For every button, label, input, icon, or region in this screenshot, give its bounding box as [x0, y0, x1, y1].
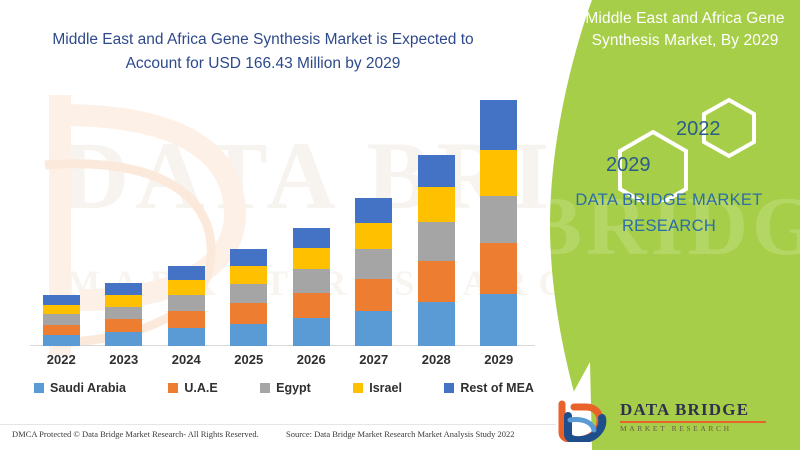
stacked-bar-2022 — [43, 295, 80, 346]
plot-area — [30, 100, 530, 346]
legend-swatch-icon — [260, 383, 270, 393]
bar-segment — [168, 311, 205, 328]
footer-source: Source: Data Bridge Market Research Mark… — [286, 429, 515, 439]
chart-infographic: DATA BRIDGE MARKET RESEARCH Middle East … — [0, 0, 800, 450]
bar-segment — [480, 196, 517, 243]
legend-item[interactable]: Israel — [353, 381, 402, 395]
legend-item[interactable]: Egypt — [260, 381, 311, 395]
logo-divider — [620, 421, 766, 423]
bar-segment — [418, 155, 455, 187]
brand-panel: BRIDGE Middle East and Africa Gene Synth… — [532, 0, 800, 450]
x-axis-tick-2029: 2029 — [468, 352, 531, 367]
bar-segment — [105, 307, 142, 320]
x-axis-labels: 20222023202420252026202720282029 — [30, 352, 530, 367]
bar-segment — [418, 222, 455, 260]
bar-column — [218, 100, 281, 346]
panel-brand-name: DATA BRIDGE MARKET RESEARCH — [556, 188, 782, 239]
data-bridge-logo: DATA BRIDGE MARKET RESEARCH — [554, 398, 784, 442]
bar-segment — [293, 228, 330, 248]
stacked-bar-2027 — [355, 198, 392, 346]
bar-column — [280, 100, 343, 346]
bar-segment — [230, 284, 267, 303]
stacked-bar-2024 — [168, 266, 205, 346]
bar-segment — [43, 305, 80, 315]
bar-segment — [293, 293, 330, 319]
bar-segment — [293, 269, 330, 292]
data-bridge-mark-icon — [554, 398, 616, 442]
bar-segment — [480, 150, 517, 196]
hexagon-label-2029: 2029 — [606, 154, 651, 177]
stacked-bar-2023 — [105, 283, 142, 346]
bar-column — [405, 100, 468, 346]
legend-label: Rest of MEA — [460, 381, 534, 395]
bar-segment — [230, 324, 267, 346]
x-axis-tick-2027: 2027 — [343, 352, 406, 367]
bar-segment — [230, 249, 267, 266]
bar-segment — [355, 279, 392, 311]
x-axis-tick-2028: 2028 — [405, 352, 468, 367]
hexagon-outline-icon — [558, 92, 788, 202]
x-axis-tick-2022: 2022 — [30, 352, 93, 367]
stacked-bar-2028 — [418, 155, 455, 346]
bar-column — [30, 100, 93, 346]
chart-title: Middle East and Africa Gene Synthesis Ma… — [38, 28, 488, 76]
legend-item[interactable]: Saudi Arabia — [34, 381, 126, 395]
bar-segment — [418, 302, 455, 346]
stacked-bar-2029 — [480, 100, 517, 346]
bar-group — [30, 100, 530, 346]
bar-segment — [480, 100, 517, 150]
logo-sub-text: MARKET RESEARCH — [620, 424, 766, 433]
bar-segment — [105, 332, 142, 346]
legend-swatch-icon — [168, 383, 178, 393]
bar-column — [155, 100, 218, 346]
legend-swatch-icon — [353, 383, 363, 393]
legend-swatch-icon — [34, 383, 44, 393]
logo-wordmark: DATA BRIDGE MARKET RESEARCH — [620, 400, 766, 433]
footer-copyright: DMCA Protected © Data Bridge Market Rese… — [12, 429, 259, 439]
legend-label: Saudi Arabia — [50, 381, 126, 395]
bar-segment — [105, 295, 142, 307]
panel-title: Middle East and Africa Gene Synthesis Ma… — [572, 8, 798, 53]
legend-label: U.A.E — [184, 381, 217, 395]
stacked-bar-2025 — [230, 249, 267, 346]
legend-item[interactable]: Rest of MEA — [444, 381, 534, 395]
bar-segment — [230, 266, 267, 284]
bar-segment — [105, 319, 142, 332]
chart-pane: DATA BRIDGE MARKET RESEARCH Middle East … — [0, 0, 560, 450]
legend-swatch-icon — [444, 383, 454, 393]
bar-segment — [43, 295, 80, 305]
bar-segment — [43, 325, 80, 336]
bar-column — [468, 100, 531, 346]
bar-segment — [293, 318, 330, 346]
bar-column — [343, 100, 406, 346]
logo-main-text: DATA BRIDGE — [620, 400, 766, 420]
bar-segment — [355, 249, 392, 279]
legend-item[interactable]: U.A.E — [168, 381, 217, 395]
bar-segment — [355, 311, 392, 346]
x-axis-tick-2026: 2026 — [280, 352, 343, 367]
bar-segment — [168, 266, 205, 280]
bar-segment — [355, 223, 392, 250]
bar-segment — [105, 283, 142, 295]
footer-divider — [0, 424, 560, 425]
bar-segment — [230, 303, 267, 323]
stacked-bar-2026 — [293, 228, 330, 346]
bar-segment — [168, 295, 205, 311]
x-axis-tick-2025: 2025 — [218, 352, 281, 367]
bar-segment — [418, 187, 455, 222]
bar-segment — [168, 280, 205, 295]
legend-label: Egypt — [276, 381, 311, 395]
chart-legend: Saudi ArabiaU.A.EEgyptIsraelRest of MEA — [34, 381, 534, 395]
bar-segment — [168, 328, 205, 346]
bar-segment — [480, 294, 517, 346]
bar-segment — [418, 261, 455, 303]
legend-label: Israel — [369, 381, 402, 395]
bar-column — [93, 100, 156, 346]
footer-bar: DMCA Protected © Data Bridge Market Rese… — [0, 424, 560, 450]
bar-segment — [43, 335, 80, 346]
bar-segment — [480, 243, 517, 294]
hexagon-label-2022: 2022 — [676, 118, 721, 141]
bar-segment — [293, 248, 330, 269]
bar-segment — [43, 314, 80, 325]
x-axis-tick-2023: 2023 — [93, 352, 156, 367]
hexagon-badges: 2029 2022 — [558, 92, 788, 202]
bar-segment — [355, 198, 392, 222]
x-axis-tick-2024: 2024 — [155, 352, 218, 367]
